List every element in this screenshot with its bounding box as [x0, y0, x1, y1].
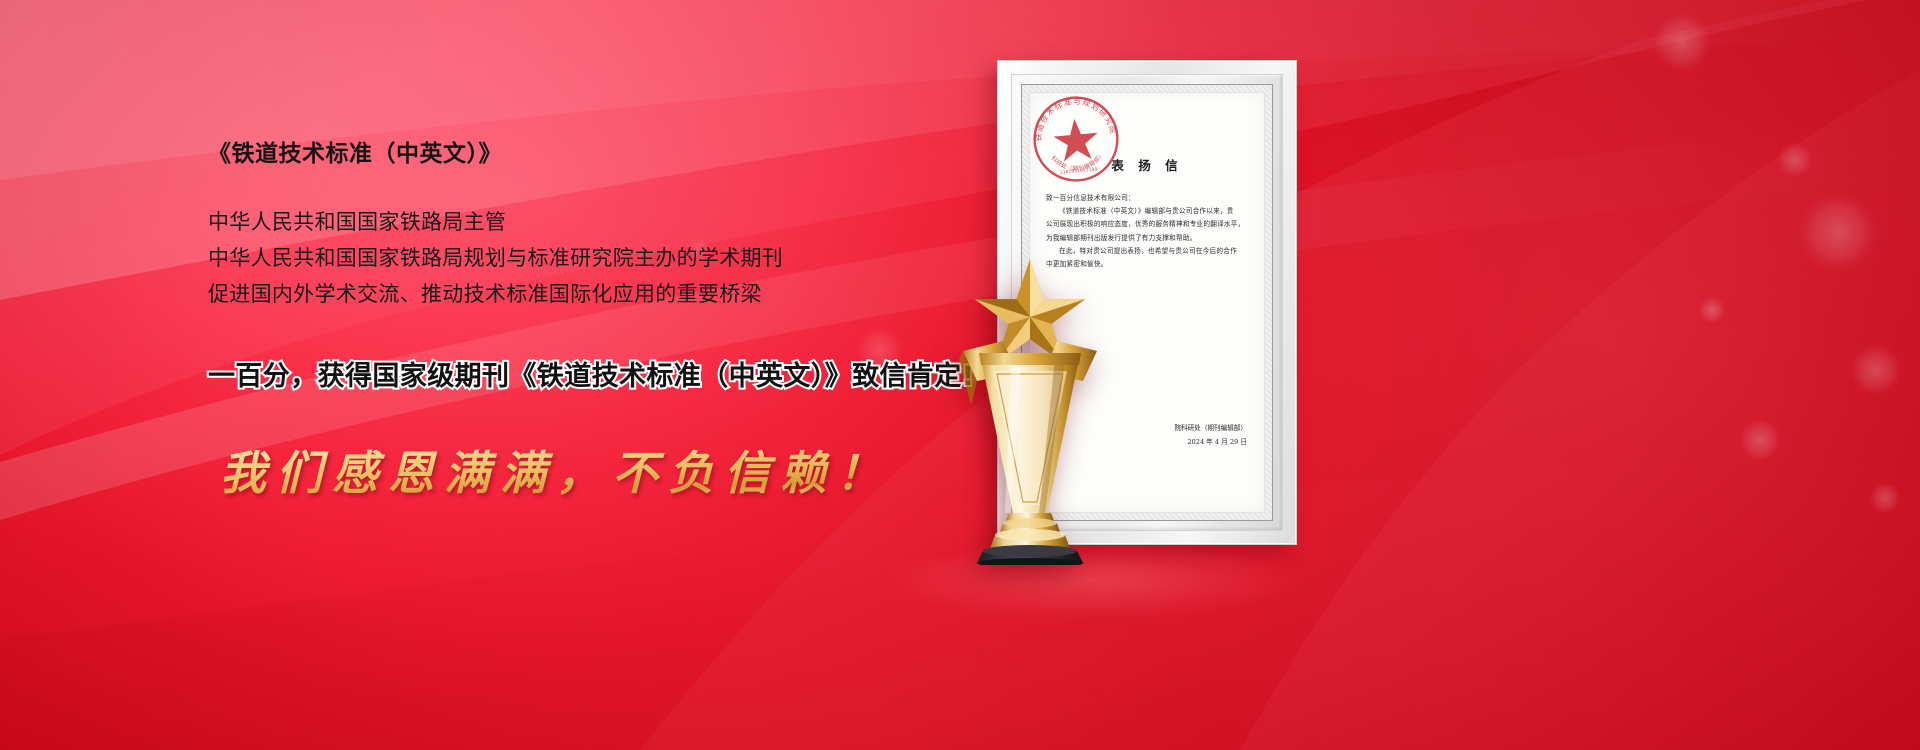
letter-signature-area: 院科研处（期刊编辑部） 2024 年 4 月 29 日 — [1174, 422, 1247, 450]
gratitude-slogan: 我们感恩满满，不负信赖！ — [220, 437, 988, 503]
letter-line-2: 《铁道技术标准（中英文）》编辑部与贵公司合作以来，贵 — [1046, 205, 1248, 218]
star-trophy-icon — [925, 255, 1135, 565]
bokeh-circle — [1777, 142, 1813, 178]
letter-signature: 院科研处（期刊编辑部） — [1174, 422, 1247, 436]
bokeh-circle — [1738, 418, 1782, 462]
red-official-seal: 铁道技术标准与规划研究院 科研处（期刊编辑部） 1102031011109 — [1030, 93, 1122, 185]
promo-banner: 《铁道技术标准（中英文）》 中华人民共和国国家铁路局主管 中华人民共和国国家铁路… — [0, 0, 1920, 750]
banner-text-block: 《铁道技术标准（中英文）》 中华人民共和国国家铁路局主管 中华人民共和国国家铁路… — [208, 140, 988, 503]
letter-date: 2024 年 4 月 29 日 — [1174, 436, 1247, 450]
description-line-1: 中华人民共和国国家铁路局主管 — [208, 204, 988, 240]
bokeh-circle — [1850, 344, 1902, 396]
letter-line-1: 致一百分信息技术有限公司： — [1046, 192, 1248, 205]
bokeh-circle — [1869, 482, 1901, 514]
journal-title: 《铁道技术标准（中英文）》 — [208, 140, 988, 170]
bokeh-circle — [1798, 192, 1878, 272]
letter-line-4: 为我编辑部期刊出版发行提供了有力支撑和帮助。 — [1046, 232, 1248, 245]
bokeh-circle — [1698, 296, 1726, 324]
bokeh-circle — [1652, 12, 1712, 72]
award-headline: 一百分，获得国家级期刊《铁道技术标准（中英文）》致信肯定! — [208, 354, 988, 393]
description-line-3: 促进国内外学术交流、推动技术标准国际化应用的重要桥梁 — [208, 276, 988, 312]
description-line-2: 中华人民共和国国家铁路局规划与标准研究院主办的学术期刊 — [208, 240, 988, 276]
letter-line-3: 公司展现出积极的响应态度，优秀的服务精神和专业的翻译水平， — [1046, 218, 1248, 231]
